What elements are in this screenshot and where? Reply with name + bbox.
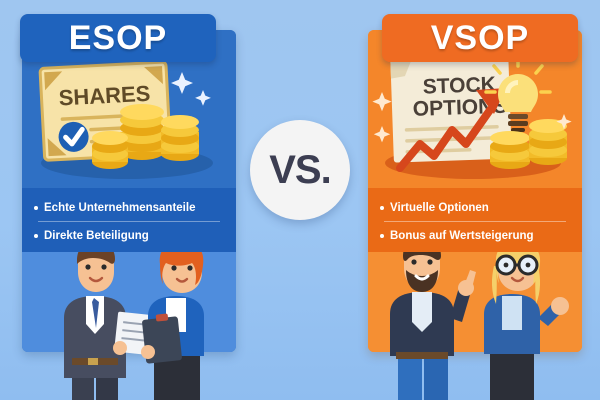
bullet-dot-icon: [34, 234, 38, 238]
blonde-woman-with-glasses: [484, 241, 569, 400]
esop-bullet-1-label: Direkte Beteiligung: [44, 230, 149, 242]
esop-header-tab: ESOP: [20, 14, 216, 62]
vsop-header-tab: VSOP: [382, 14, 578, 62]
bullet-dot-icon: [380, 234, 384, 238]
bearded-man-pointing-up: [390, 240, 476, 400]
esop-people-illustration: [36, 240, 236, 400]
vsop-bullet-1-label: Bonus auf Wertsteigerung: [390, 230, 534, 242]
vs-label: VS.: [269, 148, 330, 193]
esop-bullet-1: Direkte Beteiligung: [34, 224, 224, 248]
bullet-dot-icon: [380, 206, 384, 210]
businesswoman-with-clipboard: [141, 241, 204, 400]
vsop-people-illustration: [372, 240, 582, 400]
esop-bullet-0-label: Echte Unternehmensanteile: [44, 202, 195, 214]
vs-badge: VS.: [250, 120, 350, 220]
vsop-bullet-1: Bonus auf Wertsteigerung: [380, 224, 570, 248]
vsop-bullet-0-label: Virtuelle Optionen: [390, 202, 489, 214]
vsop-bullet-list: Virtuelle Optionen Bonus auf Wertsteiger…: [368, 188, 582, 252]
bullet-separator: [384, 221, 566, 222]
esop-bullet-list: Echte Unternehmensanteile Direkte Beteil…: [22, 188, 236, 252]
bullet-dot-icon: [34, 206, 38, 210]
esop-bullet-0: Echte Unternehmensanteile: [34, 196, 224, 220]
esop-title: ESOP: [69, 19, 167, 58]
bullet-separator: [38, 221, 220, 222]
sparkle-icon: [171, 72, 211, 106]
vsop-bullet-0: Virtuelle Optionen: [380, 196, 570, 220]
infographic-canvas: SHARES: [0, 0, 600, 400]
vsop-title: VSOP: [431, 19, 529, 58]
